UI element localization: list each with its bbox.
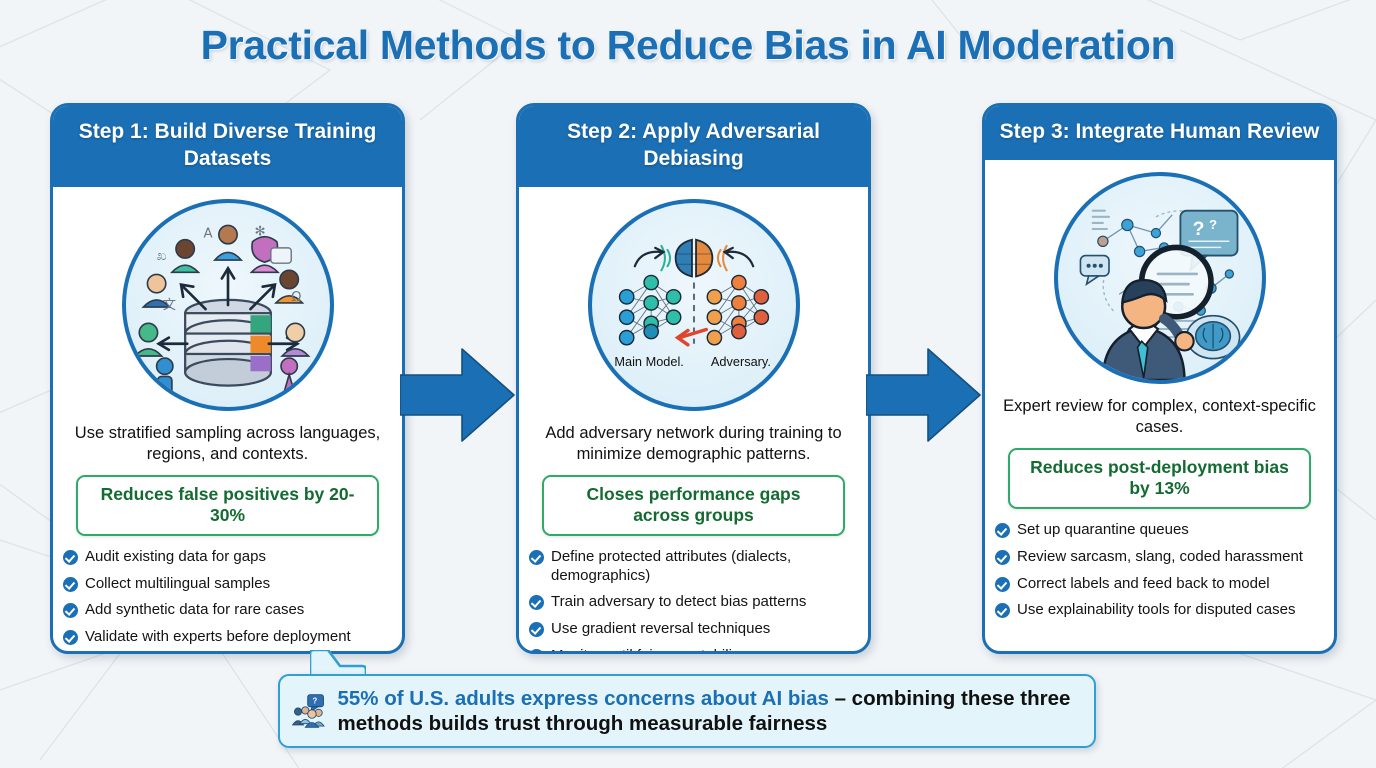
- bullet-text: Set up quarantine queues: [1017, 521, 1189, 540]
- banner-text: 55% of U.S. adults express concerns abou…: [337, 686, 1080, 737]
- step-card-1-stat: Reduces false positives by 20-30%: [76, 475, 379, 536]
- step-card-1-description: Use stratified sampling across languages…: [63, 423, 392, 465]
- step-card-3: Step 3: Integrate Human Review: [982, 103, 1337, 654]
- svg-text:A: A: [203, 226, 212, 241]
- two-neural-networks-icon: Main Model. Adversary.: [588, 199, 800, 411]
- step-card-3-stat: Reduces post-deployment bias by 13%: [1008, 448, 1311, 509]
- bullet-text: Add synthetic data for rare cases: [85, 601, 304, 620]
- illustration-label-main-model: Main Model.: [614, 354, 683, 369]
- list-item: Add synthetic data for rare cases: [63, 601, 392, 620]
- bullet-text: Audit existing data for gaps: [85, 548, 266, 567]
- check-icon: [63, 603, 78, 618]
- check-icon: [995, 577, 1010, 592]
- check-icon: [995, 550, 1010, 565]
- list-item: Train adversary to detect bias patterns: [529, 593, 858, 612]
- list-item: Audit existing data for gaps: [63, 548, 392, 567]
- check-icon: [995, 523, 1010, 538]
- check-icon: [63, 550, 78, 565]
- bullet-text: Monitor until fairness stabilizes: [551, 647, 755, 654]
- list-item: Validate with experts before deployment: [63, 628, 392, 647]
- check-icon: [63, 630, 78, 645]
- svg-text:文: 文: [162, 297, 175, 313]
- step-card-3-header: Step 3: Integrate Human Review: [985, 106, 1334, 160]
- check-icon: [529, 622, 544, 637]
- people-question-icon: ?: [292, 684, 329, 738]
- svg-text:ಖ: ಖ: [156, 249, 166, 264]
- step-card-2-stat: Closes performance gaps across groups: [542, 475, 845, 536]
- bottom-banner: ? 55% of U.S. adults express concerns ab…: [278, 674, 1096, 748]
- banner-highlight: 55% of U.S. adults express concerns abou…: [337, 687, 828, 710]
- diverse-people-database-icon: A ✻ ಖ Ω 文: [122, 199, 334, 411]
- step-card-2: Step 2: Apply Adversarial Debiasing: [516, 103, 871, 654]
- check-icon: [529, 550, 544, 565]
- bullet-text: Correct labels and feed back to model: [1017, 575, 1270, 594]
- list-item: Correct labels and feed back to model: [995, 575, 1324, 594]
- step-card-3-bullets: Set up quarantine queues Review sarcasm,…: [995, 521, 1324, 629]
- list-item: Review sarcasm, slang, coded harassment: [995, 548, 1324, 567]
- bullet-text: Review sarcasm, slang, coded harassment: [1017, 548, 1303, 567]
- step-card-3-body: ? ?: [985, 160, 1334, 651]
- check-icon: [995, 603, 1010, 618]
- list-item: Monitor until fairness stabilizes: [529, 647, 858, 654]
- svg-text:Ω: Ω: [291, 290, 301, 305]
- svg-text:?: ?: [1192, 218, 1204, 240]
- step-card-2-body: Main Model. Adversary. Add adversary net…: [519, 187, 868, 654]
- bullet-text: Validate with experts before deployment: [85, 628, 351, 647]
- step-card-1-bullets: Audit existing data for gaps Collect mul…: [63, 548, 392, 654]
- bullet-text: Train adversary to detect bias patterns: [551, 593, 806, 612]
- step-card-2-description: Add adversary network during training to…: [529, 423, 858, 465]
- illustration-label-adversary: Adversary.: [710, 354, 770, 369]
- step-card-1-header: Step 1: Build Diverse Training Datasets: [53, 106, 402, 187]
- list-item: Define protected attributes (dialects, d…: [529, 548, 858, 586]
- step-card-2-bullets: Define protected attributes (dialects, d…: [529, 548, 858, 654]
- bullet-text: Use gradient reversal techniques: [551, 620, 770, 639]
- list-item: Collect multilingual samples: [63, 575, 392, 594]
- svg-text:?: ?: [1208, 217, 1216, 232]
- step-card-3-description: Expert review for complex, context-speci…: [995, 396, 1324, 438]
- arrow-step2-to-step3: [866, 345, 981, 445]
- svg-text:?: ?: [313, 697, 318, 706]
- bullet-text: Use explainability tools for disputed ca…: [1017, 601, 1295, 620]
- svg-text:✻: ✻: [254, 224, 265, 239]
- check-icon: [529, 649, 544, 654]
- bullet-text: Collect multilingual samples: [85, 575, 270, 594]
- step-card-1-body: A ✻ ಖ Ω 文 Use stratified sampling across…: [53, 187, 402, 654]
- check-icon: [63, 577, 78, 592]
- list-item: Use gradient reversal techniques: [529, 620, 858, 639]
- bullet-text: Define protected attributes (dialects, d…: [551, 548, 858, 586]
- list-item: Use explainability tools for disputed ca…: [995, 601, 1324, 620]
- page-title: Practical Methods to Reduce Bias in AI M…: [0, 22, 1376, 69]
- analyst-magnifier-icon: ? ?: [1054, 172, 1266, 384]
- arrow-step1-to-step2: [400, 345, 515, 445]
- step-card-1: Step 1: Build Diverse Training Datasets: [50, 103, 405, 654]
- check-icon: [529, 595, 544, 610]
- step-card-2-header: Step 2: Apply Adversarial Debiasing: [519, 106, 868, 187]
- list-item: Set up quarantine queues: [995, 521, 1324, 540]
